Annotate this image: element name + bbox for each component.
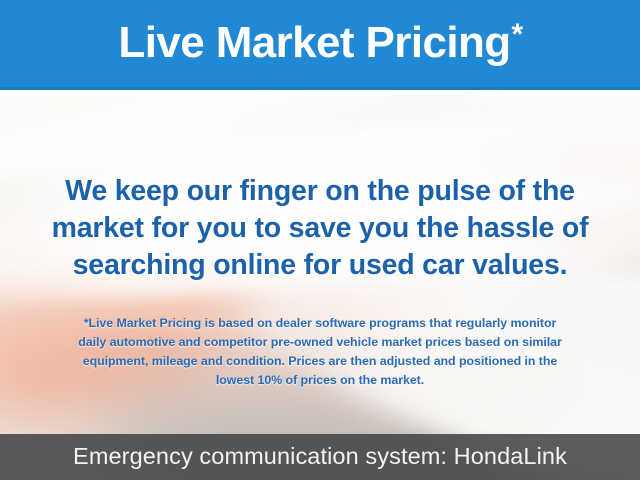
- fine-print-disclaimer: *Live Market Pricing is based on dealer …: [28, 314, 612, 390]
- headline-line-1: We keep our finger on the pulse of the: [20, 173, 620, 210]
- header-title: Live Market Pricing*: [118, 21, 521, 65]
- content-area: We keep our finger on the pulse of the m…: [0, 90, 640, 434]
- slide-screen: Live Market Pricing* We keep our finger …: [0, 0, 640, 480]
- header-title-asterisk: *: [512, 18, 523, 51]
- fine-print-line-1: *Live Market Pricing is based on dealer …: [28, 314, 612, 333]
- caption-bar: Emergency communication system: HondaLin…: [0, 434, 640, 480]
- fine-print-line-4: lowest 10% of prices on the market.: [28, 371, 612, 390]
- header-title-text: Live Market Pricing: [118, 18, 510, 67]
- caption-text: Emergency communication system: HondaLin…: [73, 445, 567, 469]
- headline: We keep our finger on the pulse of the m…: [20, 173, 620, 284]
- fine-print-line-2: daily automotive and competitor pre-owne…: [28, 333, 612, 352]
- headline-line-2: market for you to save you the hassle of: [20, 210, 620, 247]
- headline-line-3: searching online for used car values.: [20, 247, 620, 284]
- header-banner: Live Market Pricing*: [0, 0, 640, 90]
- fine-print-line-3: equipment, mileage and condition. Prices…: [28, 352, 612, 371]
